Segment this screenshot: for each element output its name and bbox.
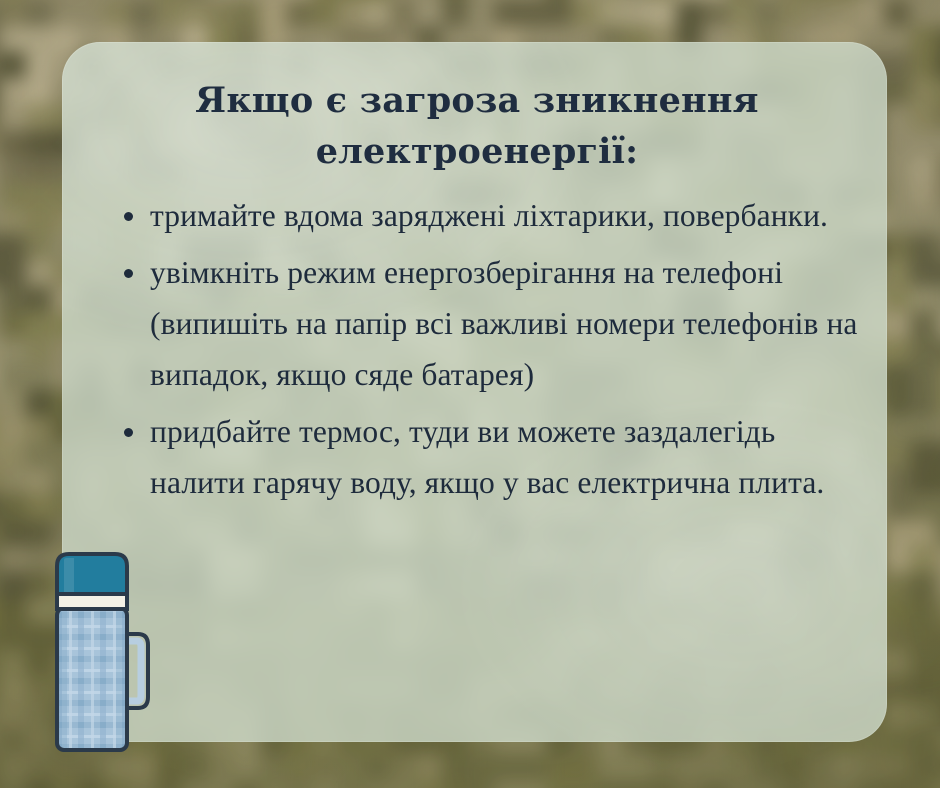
poster-canvas: Якщо є загроза зникнення електроенергії:… [0,0,940,788]
list-item-text: придбайте термос, туди ви можете заздале… [150,414,824,500]
thermos-cap-highlight [64,558,74,592]
thermos-icon [34,546,154,762]
advice-list: тримайте вдома заряджені ліхтарики, пове… [106,190,866,514]
bullet-dot-icon [124,428,133,437]
list-item-text: увімкніть режим енергозберігання на теле… [150,255,858,392]
list-item: тримайте вдома заряджені ліхтарики, пове… [106,190,866,241]
thermos-illustration [34,546,154,762]
bullet-dot-icon [124,212,133,221]
thermos-handle-fill [127,641,141,701]
list-item-text: тримайте вдома заряджені ліхтарики, пове… [150,198,828,233]
list-item: придбайте термос, туди ви можете заздале… [106,406,866,508]
page-title: Якщо є загроза зникнення електроенергії: [132,76,822,178]
list-item: увімкніть режим енергозберігання на теле… [106,247,866,400]
content-card: Якщо є загроза зникнення електроенергії:… [62,42,887,742]
bullet-dot-icon [124,269,133,278]
